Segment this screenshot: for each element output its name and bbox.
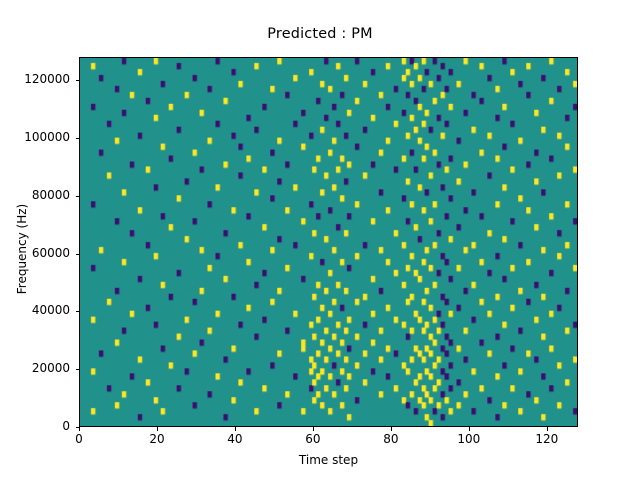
y-tick <box>76 311 80 312</box>
y-tick-label: 120000 <box>4 72 70 86</box>
x-tick-label: 80 <box>361 432 421 446</box>
y-tick-label: 100000 <box>4 130 70 144</box>
y-tick <box>76 369 80 370</box>
matplotlib-figure: Predicted : PM 0204060801001200200004000… <box>0 0 640 480</box>
x-tick-label: 0 <box>49 432 109 446</box>
y-tick-label: 60000 <box>4 246 70 260</box>
y-tick <box>76 196 80 197</box>
x-axis-label: Time step <box>79 453 578 467</box>
y-tick <box>76 254 80 255</box>
chart-title: Predicted : PM <box>0 26 640 42</box>
x-tick-label: 40 <box>205 432 265 446</box>
x-tick <box>157 427 158 431</box>
y-tick-label: 40000 <box>4 303 70 317</box>
y-tick-label: 80000 <box>4 188 70 202</box>
y-tick-label: 0 <box>4 419 70 433</box>
x-tick-label: 100 <box>439 432 499 446</box>
y-tick <box>76 80 80 81</box>
y-tick-label: 20000 <box>4 361 70 375</box>
heatmap-axes <box>79 57 578 427</box>
x-tick-label: 120 <box>517 432 577 446</box>
x-tick <box>469 427 470 431</box>
y-tick <box>76 427 80 428</box>
x-tick <box>313 427 314 431</box>
heatmap-image <box>80 58 577 426</box>
y-axis-label: Frequency (Hz) <box>15 189 29 309</box>
x-tick-label: 60 <box>283 432 343 446</box>
x-tick <box>391 427 392 431</box>
x-tick <box>235 427 236 431</box>
y-tick <box>76 138 80 139</box>
x-tick <box>79 427 80 431</box>
x-tick <box>547 427 548 431</box>
x-tick-label: 20 <box>127 432 187 446</box>
